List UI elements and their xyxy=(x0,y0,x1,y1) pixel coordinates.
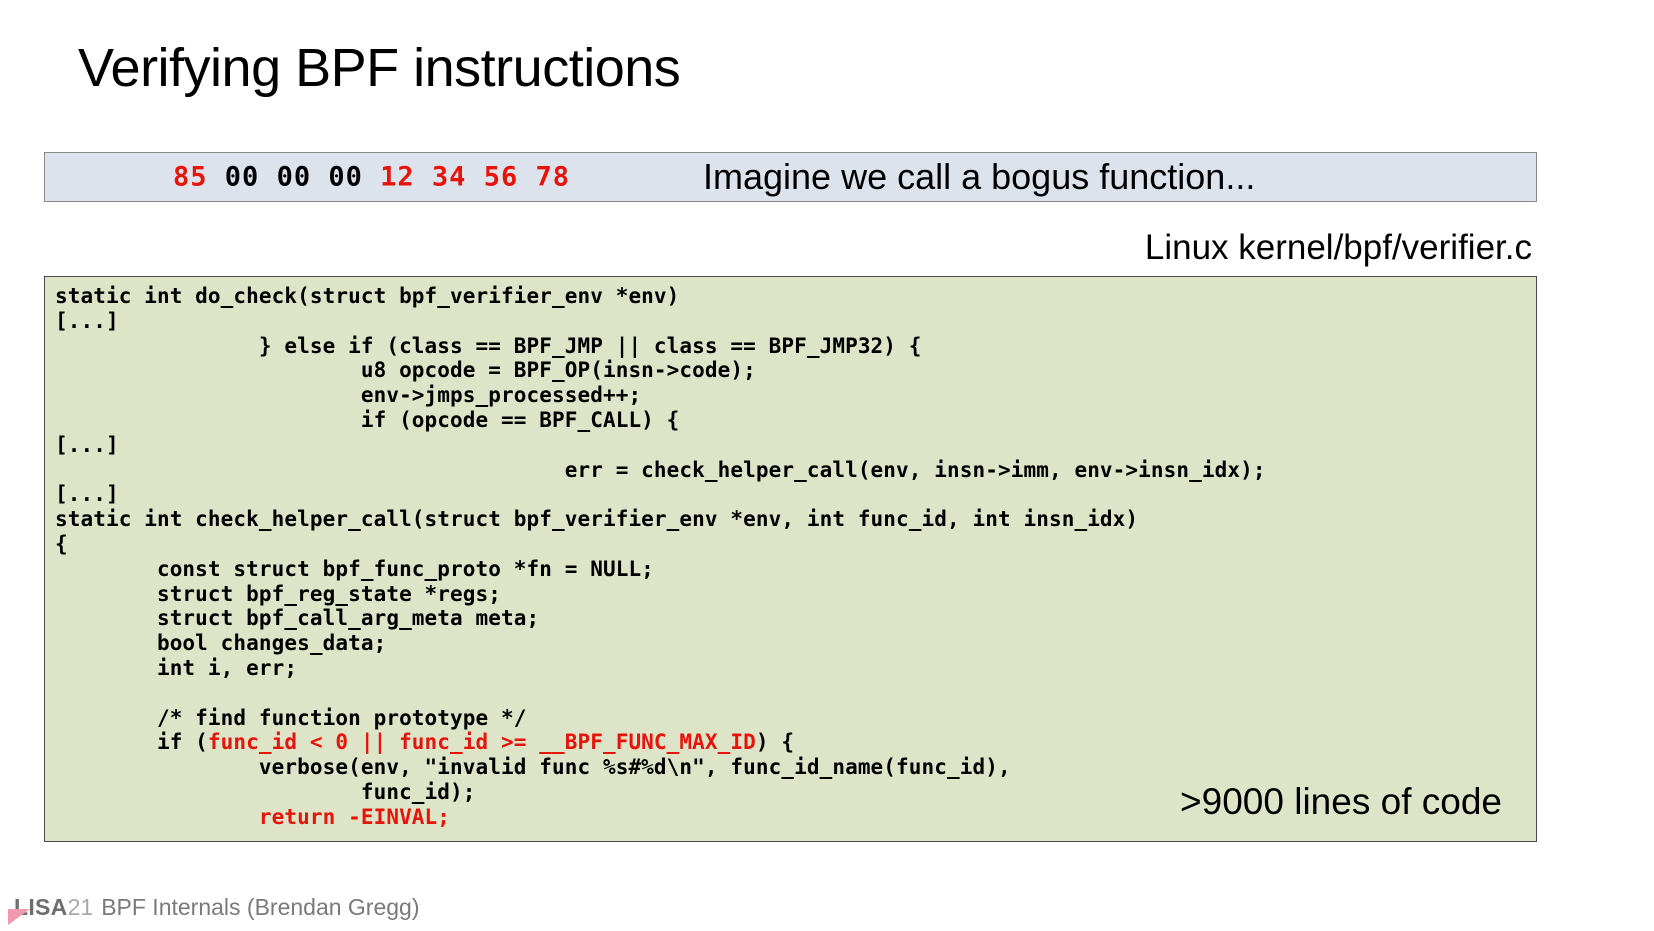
bytecode-byte: 12 xyxy=(380,162,415,193)
footer-year: 21 xyxy=(68,894,94,921)
bytecode-byte: 00 xyxy=(328,162,363,193)
bytecode-byte: 85 xyxy=(173,162,208,193)
footer-deck-title: BPF Internals (Brendan Gregg) xyxy=(101,894,419,921)
page-title: Verifying BPF instructions xyxy=(78,40,680,97)
source-code: static int do_check(struct bpf_verifier_… xyxy=(55,284,1266,830)
bytecode-byte: 00 xyxy=(225,162,260,193)
code-highlight: return -EINVAL; xyxy=(259,805,450,829)
lines-of-code-annotation: >9000 lines of code xyxy=(1180,781,1502,823)
footer-brand: LISA xyxy=(14,894,68,921)
bpf-bytecode: 85 00 00 00 12 34 56 78 xyxy=(173,162,570,193)
footer: LISA 21 BPF Internals (Brendan Gregg) xyxy=(14,894,420,921)
bpf-instruction-banner: 85 00 00 00 12 34 56 78 Imagine we call … xyxy=(44,152,1537,202)
source-caption: Linux kernel/bpf/verifier.c xyxy=(1145,228,1532,268)
code-block: static int do_check(struct bpf_verifier_… xyxy=(44,276,1537,842)
bytecode-byte: 34 xyxy=(432,162,467,193)
code-span xyxy=(55,805,259,829)
code-span: if ( xyxy=(55,730,208,754)
bytecode-byte: 78 xyxy=(535,162,570,193)
bytecode-byte: 00 xyxy=(277,162,312,193)
banner-note: Imagine we call a bogus function... xyxy=(703,156,1255,198)
code-span: ) { xyxy=(756,730,794,754)
bytecode-byte: 56 xyxy=(484,162,519,193)
code-highlight: func_id < 0 || func_id >= __BPF_FUNC_MAX… xyxy=(208,730,756,754)
